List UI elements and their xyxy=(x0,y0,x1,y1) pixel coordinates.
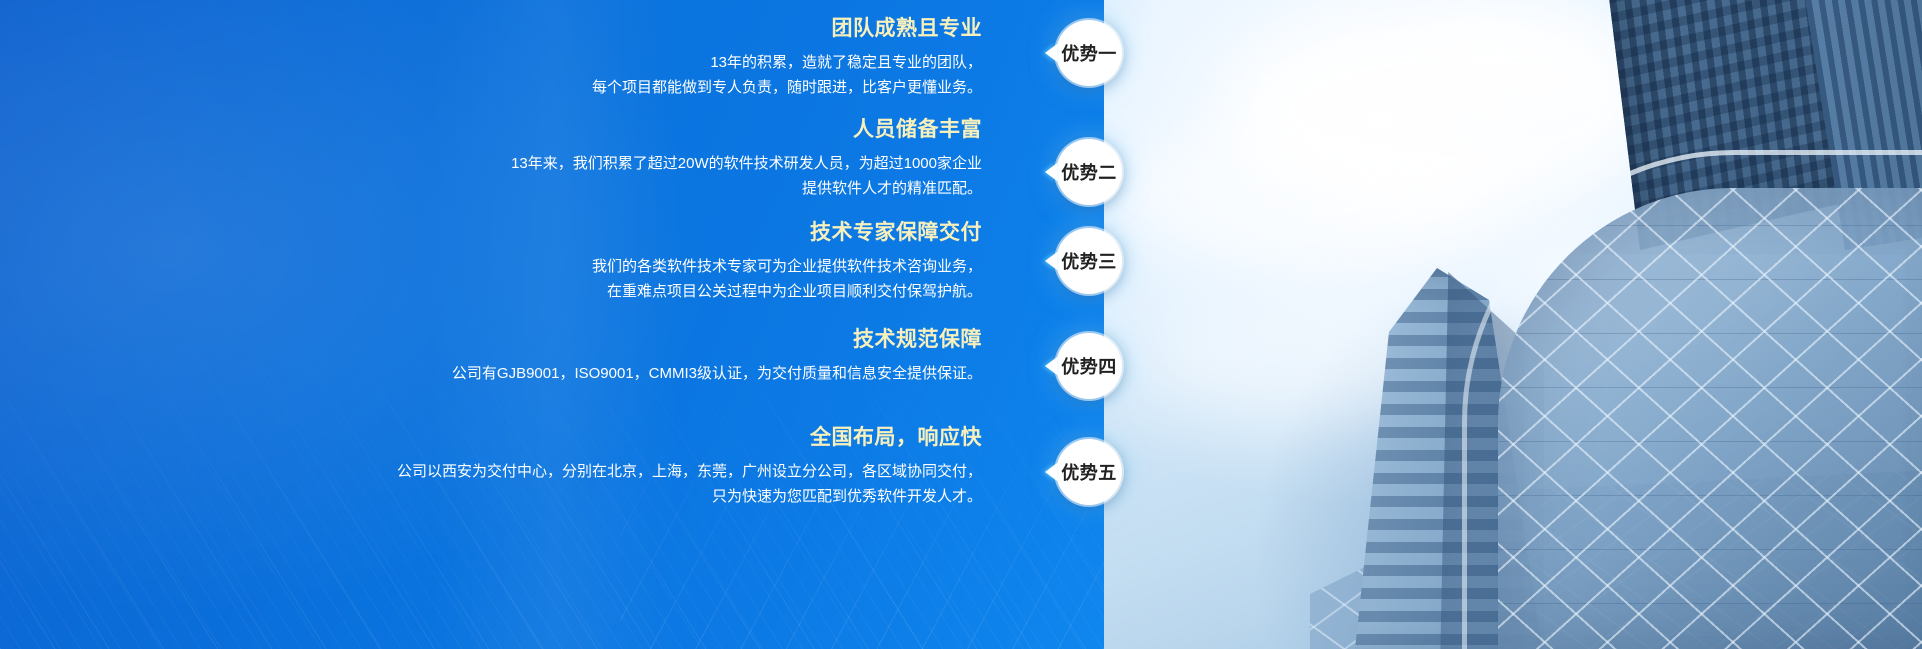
advantage-title: 团队成熟且专业 xyxy=(0,16,982,42)
advantage-title: 全国布局，响应快 xyxy=(0,425,982,451)
advantage-description-line: 公司以西安为交付中心，分别在北京，上海，东莞，广州设立分公司，各区域协同交付， xyxy=(0,460,982,484)
advantage-badge-1[interactable]: 优势一 xyxy=(1056,20,1122,86)
advantage-description: 13年来，我们积累了超过20W的软件技术研发人员，为超过1000家企业 提供软件… xyxy=(0,152,982,201)
advantage-description: 我们的各类软件技术专家可为企业提供软件技术咨询业务， 在重难点项目公关过程中为企… xyxy=(0,255,982,304)
advantage-badge-2[interactable]: 优势二 xyxy=(1056,139,1122,205)
cloud-shape xyxy=(1120,120,1500,270)
advantage-title: 技术专家保障交付 xyxy=(0,220,982,246)
advantage-description-line: 只为快速为您匹配到优秀软件开发人才。 xyxy=(0,485,982,509)
advantages-banner: 团队成熟且专业 13年的积累，造就了稳定且专业的团队， 每个项目都能做到专人负责… xyxy=(0,0,1922,649)
advantage-description-line: 公司有GJB9001，ISO9001，CMMI3级认证，为交付质量和信息安全提供… xyxy=(0,362,982,386)
advantage-row-1: 团队成熟且专业 13年的积累，造就了稳定且专业的团队， 每个项目都能做到专人负责… xyxy=(0,16,1104,100)
advantage-description: 公司以西安为交付中心，分别在北京，上海，东莞，广州设立分公司，各区域协同交付， … xyxy=(0,460,982,509)
advantage-row-5: 全国布局，响应快 公司以西安为交付中心，分别在北京，上海，东莞，广州设立分公司，… xyxy=(0,425,1104,509)
advantage-row-2: 人员储备丰富 13年来，我们积累了超过20W的软件技术研发人员，为超过1000家… xyxy=(0,117,1104,201)
advantage-badge-5[interactable]: 优势五 xyxy=(1056,439,1122,505)
advantage-description: 13年的积累，造就了稳定且专业的团队， 每个项目都能做到专人负责，随时跟进，比客… xyxy=(0,51,982,100)
advantage-description: 公司有GJB9001，ISO9001，CMMI3级认证，为交付质量和信息安全提供… xyxy=(0,362,982,386)
advantage-description-line: 提供软件人才的精准匹配。 xyxy=(0,177,982,201)
cloud-shape xyxy=(1420,0,1640,110)
advantage-description-line: 每个项目都能做到专人负责，随时跟进，比客户更懂业务。 xyxy=(0,76,982,100)
advantage-description-line: 在重难点项目公关过程中为企业项目顺利交付保驾护航。 xyxy=(0,280,982,304)
advantage-title: 技术规范保障 xyxy=(0,327,982,353)
advantage-list: 团队成熟且专业 13年的积累，造就了稳定且专业的团队， 每个项目都能做到专人负责… xyxy=(0,0,1104,649)
advantage-row-3: 技术专家保障交付 我们的各类软件技术专家可为企业提供软件技术咨询业务， 在重难点… xyxy=(0,220,1104,304)
advantage-title: 人员储备丰富 xyxy=(0,117,982,143)
advantage-badge-3[interactable]: 优势三 xyxy=(1056,228,1122,294)
advantage-description-line: 我们的各类软件技术专家可为企业提供软件技术咨询业务， xyxy=(0,255,982,279)
advantage-row-4: 技术规范保障 公司有GJB9001，ISO9001，CMMI3级认证，为交付质量… xyxy=(0,327,1104,387)
advantage-description-line: 13年来，我们积累了超过20W的软件技术研发人员，为超过1000家企业 xyxy=(0,152,982,176)
advantage-description-line: 13年的积累，造就了稳定且专业的团队， xyxy=(0,51,982,75)
advantage-badge-4[interactable]: 优势四 xyxy=(1056,333,1122,399)
